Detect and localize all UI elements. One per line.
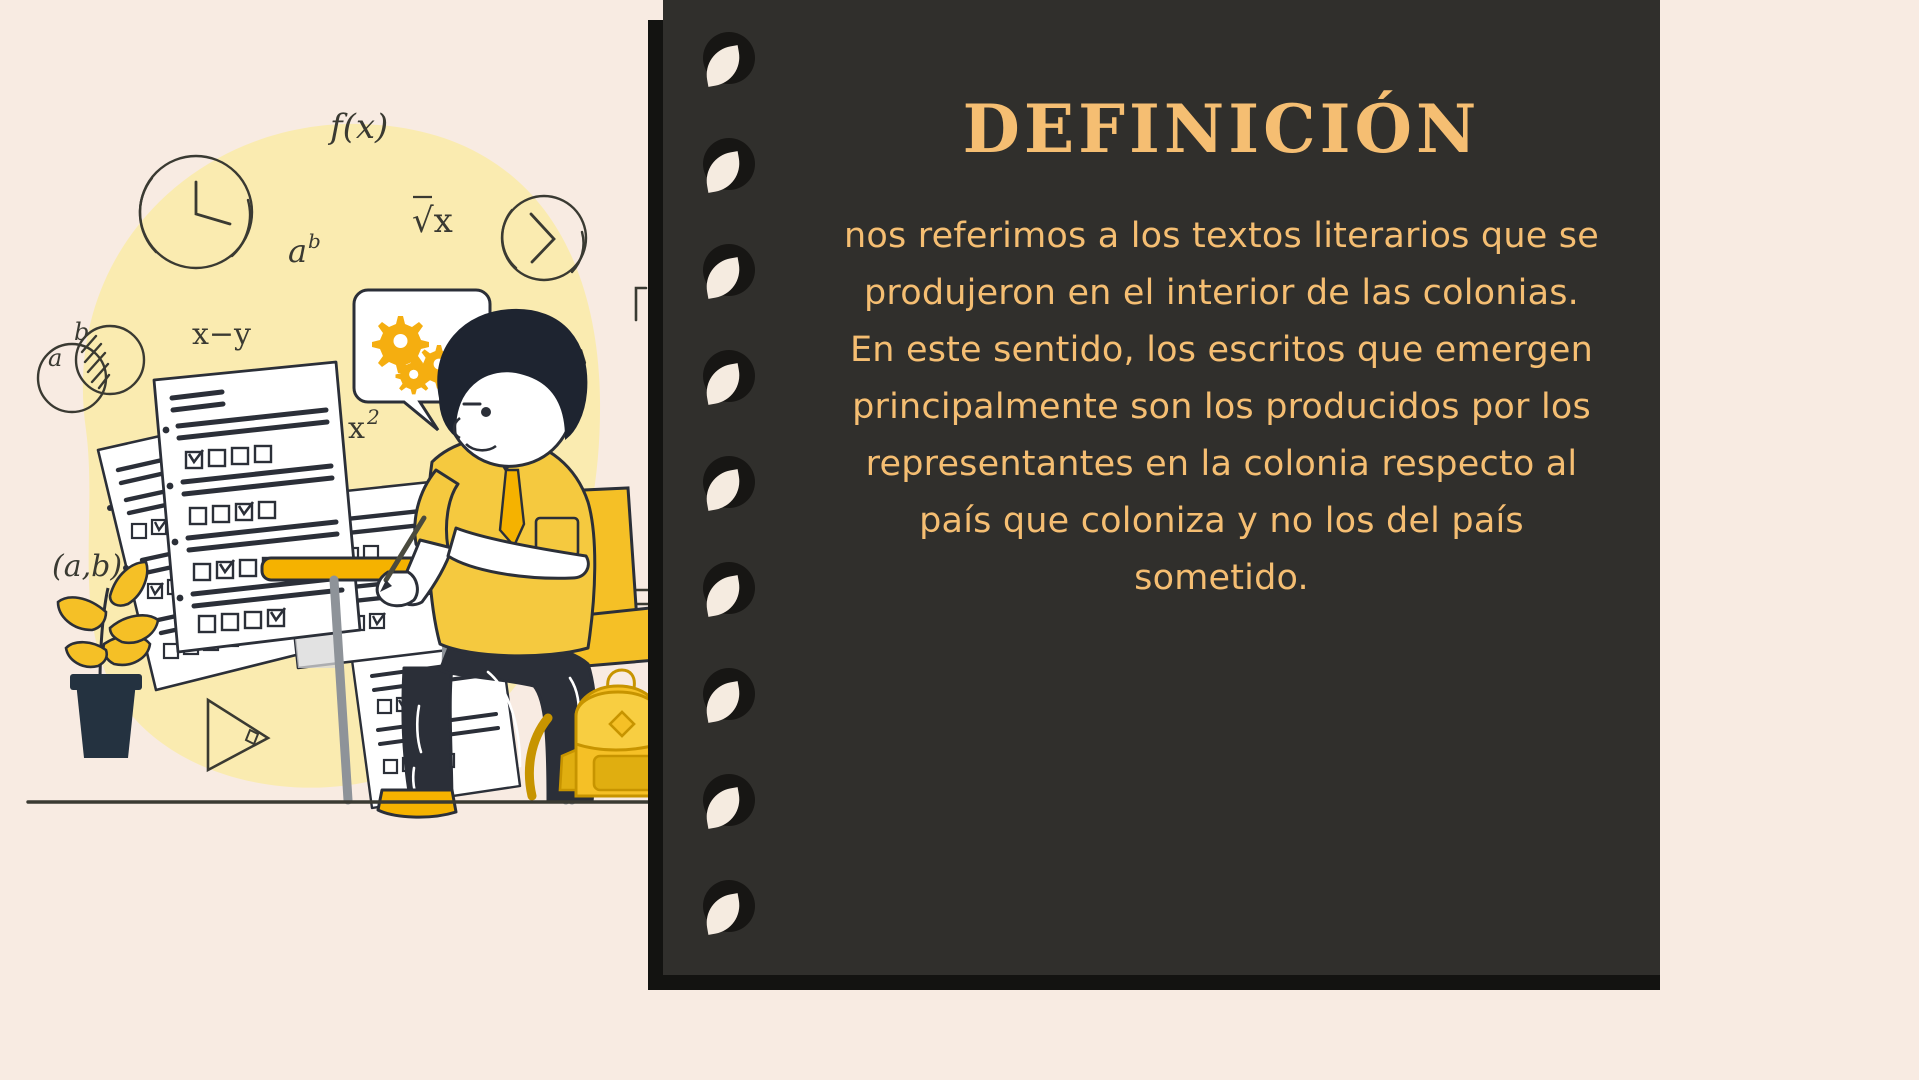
punch-hole xyxy=(703,668,755,720)
punch-hole xyxy=(703,32,755,84)
gear-icon-3 xyxy=(396,358,432,394)
definition-paragraph: nos referimos a los textos literarios qu… xyxy=(842,208,1602,607)
punch-hole xyxy=(703,138,755,190)
punch-hole xyxy=(703,774,755,826)
student-studying-illustration: f(x) √x a b x−y x 2 a b (a,b) ⟨x,y⟩ xyxy=(0,0,700,860)
doodle-label-b: b xyxy=(74,318,89,346)
exam-paper-1 xyxy=(154,362,360,652)
page-title: DEFINICIÓN xyxy=(963,96,1481,162)
punch-hole xyxy=(703,350,755,402)
doodle-label-a: a xyxy=(48,344,62,372)
doodle-label-pair: (a,b) xyxy=(52,549,122,584)
definition-card: DEFINICIÓN nos referimos a los textos li… xyxy=(663,0,1660,975)
doodle-label-xsq: x xyxy=(348,411,365,446)
doodle-label-xminusy: x−y xyxy=(192,317,251,352)
punch-hole-strip xyxy=(663,0,783,975)
doodle-label-ab-sup: b xyxy=(308,229,321,253)
punch-hole xyxy=(703,456,755,508)
doodle-label-ab: a xyxy=(288,232,307,270)
card-content: DEFINICIÓN nos referimos a los textos li… xyxy=(783,0,1660,975)
doodle-label-xsq-sup: 2 xyxy=(366,405,380,429)
punch-hole xyxy=(703,880,755,932)
doodle-label-sqrtx: √x xyxy=(412,201,453,241)
doodle-label-fx: f(x) xyxy=(327,107,388,147)
punch-hole xyxy=(703,244,755,296)
slide-canvas: f(x) √x a b x−y x 2 a b (a,b) ⟨x,y⟩ xyxy=(0,0,1919,1080)
punch-hole xyxy=(703,562,755,614)
